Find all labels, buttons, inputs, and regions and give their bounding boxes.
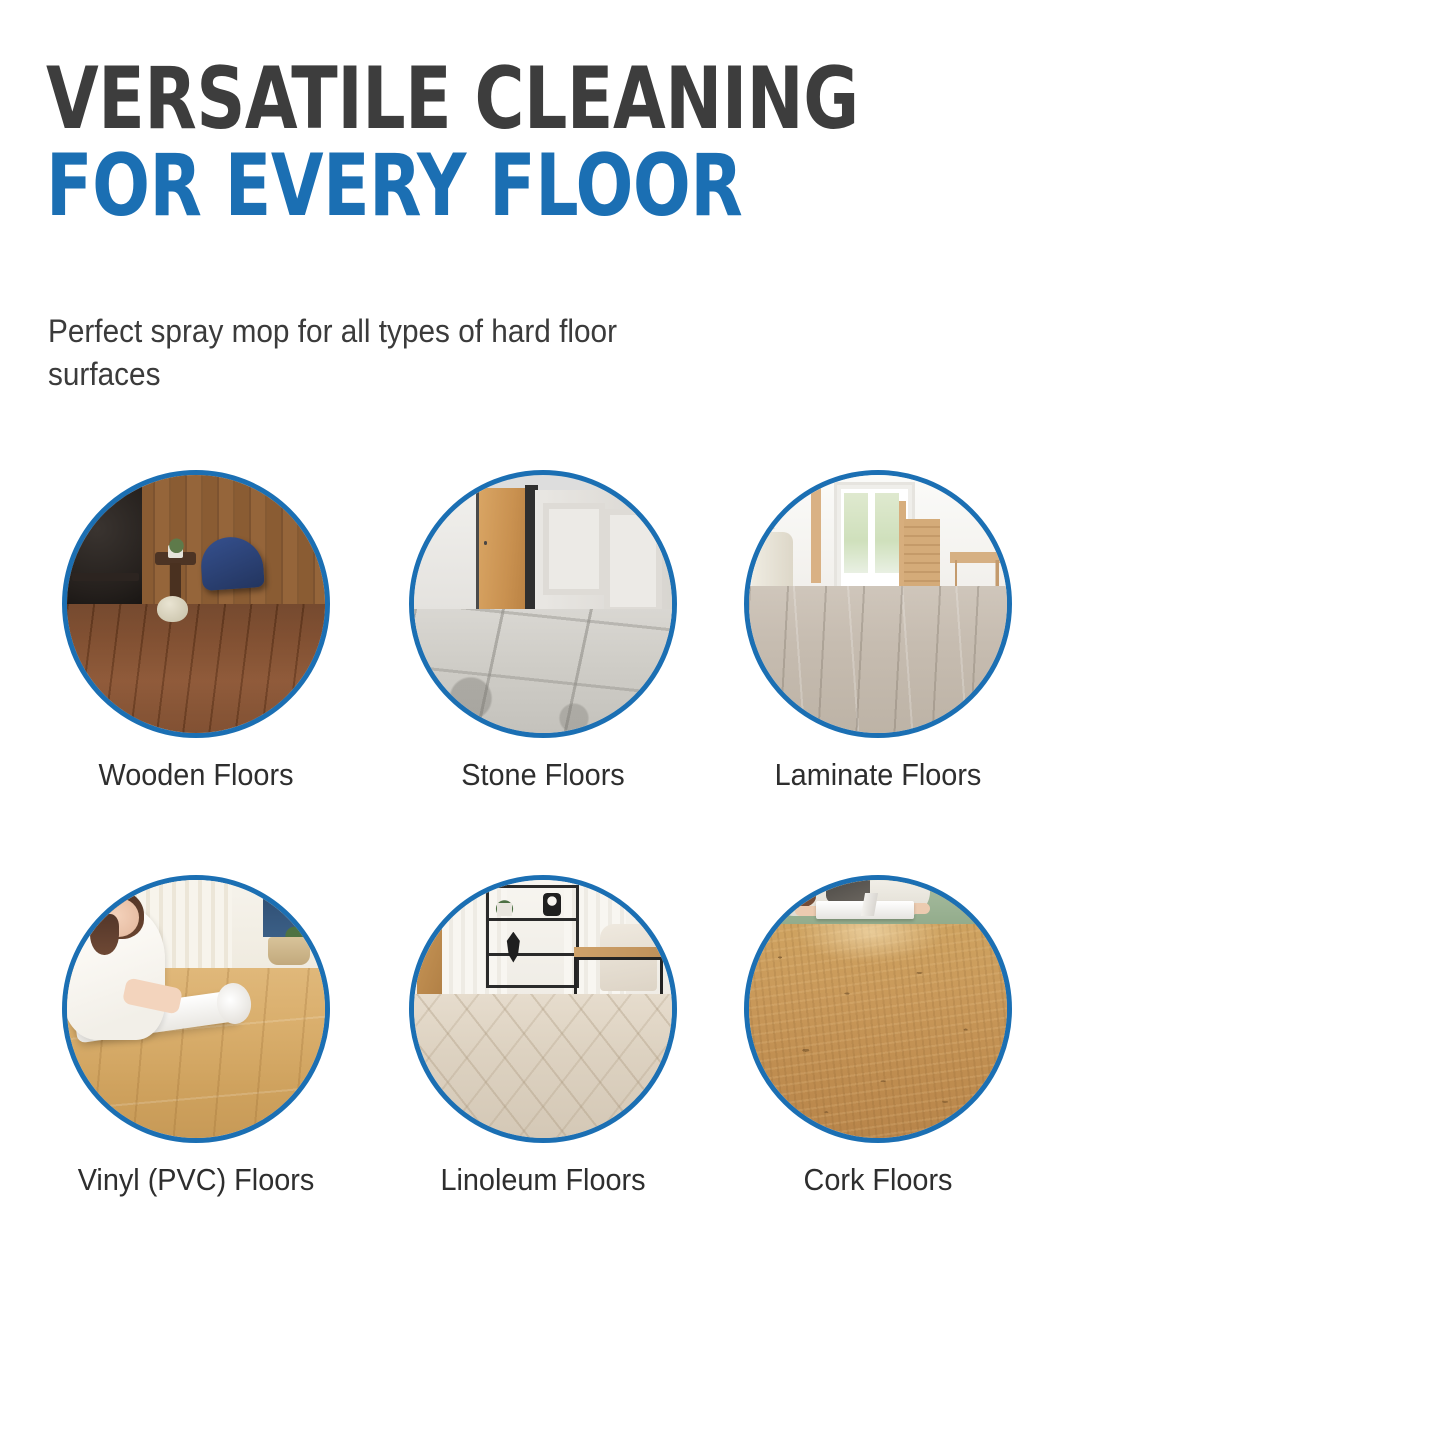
page-title-line-2: FOR EVERY FLOOR [46, 145, 838, 228]
page-subtitle: Perfect spray mop for all types of hard … [48, 310, 736, 396]
floor-image-wooden [62, 470, 330, 738]
product-image-spray-mop [960, 0, 1445, 1410]
infographic-canvas: VERSATILE CLEANING FOR EVERY FLOOR Perfe… [0, 0, 1445, 1445]
floor-image-stone [409, 470, 677, 738]
headline-block: VERSATILE CLEANING FOR EVERY FLOOR [46, 58, 946, 227]
floor-image-linoleum [409, 875, 677, 1143]
floor-type-label-wooden: Wooden Floors [57, 758, 336, 791]
page-title-line-1: VERSATILE CLEANING [46, 58, 838, 141]
floor-type-label-linoleum: Linoleum Floors [404, 1163, 683, 1196]
floor-image-vinyl [62, 875, 330, 1143]
floor-type-label-stone: Stone Floors [404, 758, 683, 791]
floor-type-label-vinyl: Vinyl (PVC) Floors [57, 1163, 336, 1196]
